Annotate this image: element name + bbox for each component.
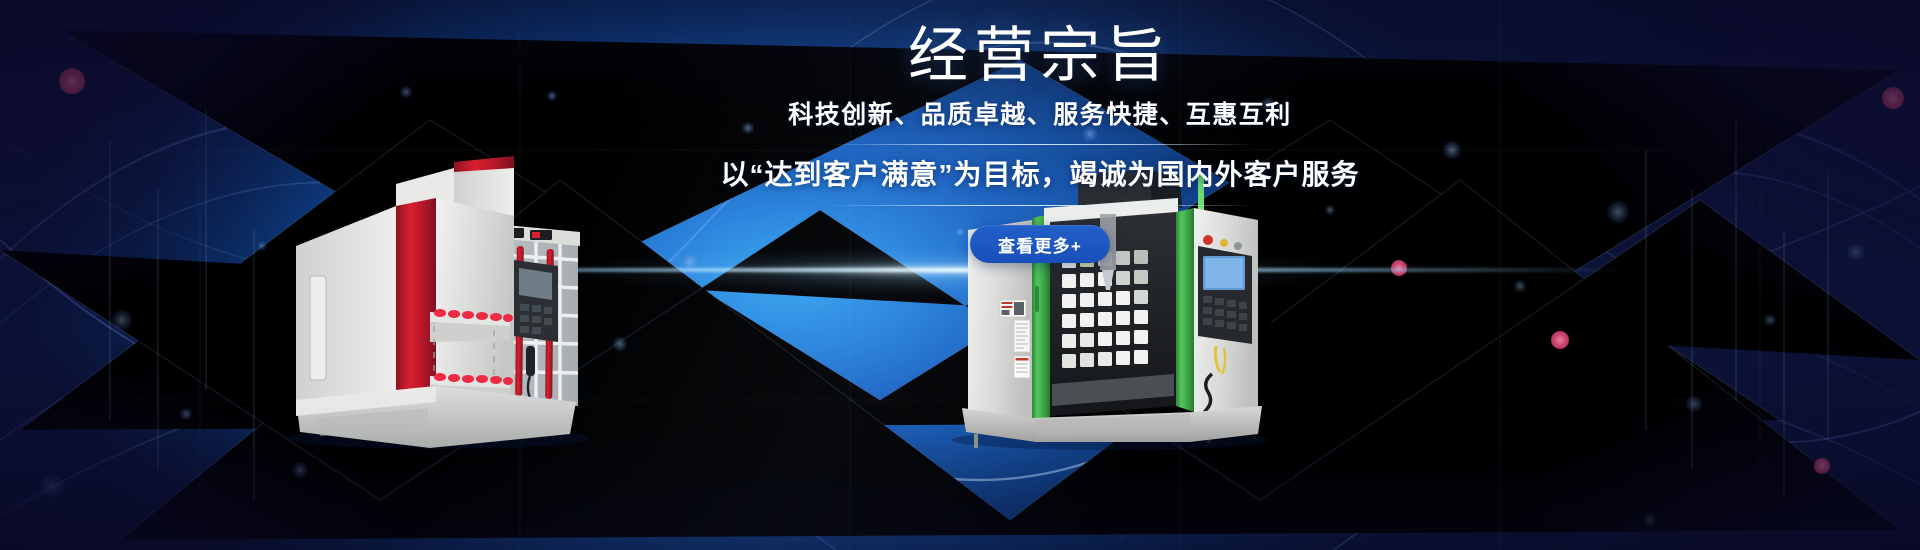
divider-top [833, 144, 1247, 145]
divider-bottom [833, 205, 1247, 206]
hero-banner: 经营宗旨 科技创新、品质卓越、服务快捷、互惠互利 以“达到客户满意”为目标，竭诚… [0, 0, 1920, 550]
hero-subtitle: 科技创新、品质卓越、服务快捷、互惠互利 [500, 100, 1580, 131]
cta-container: 查看更多+ [500, 225, 1580, 263]
hero-tagline: 以“达到客户满意”为目标，竭诚为国内外客户服务 [500, 157, 1580, 192]
hero-copy-block: 经营宗旨 科技创新、品质卓越、服务快捷、互惠互利 以“达到客户满意”为目标，竭诚… [500, 22, 1580, 263]
view-more-button[interactable]: 查看更多+ [970, 225, 1110, 263]
page-title: 经营宗旨 [500, 22, 1580, 89]
